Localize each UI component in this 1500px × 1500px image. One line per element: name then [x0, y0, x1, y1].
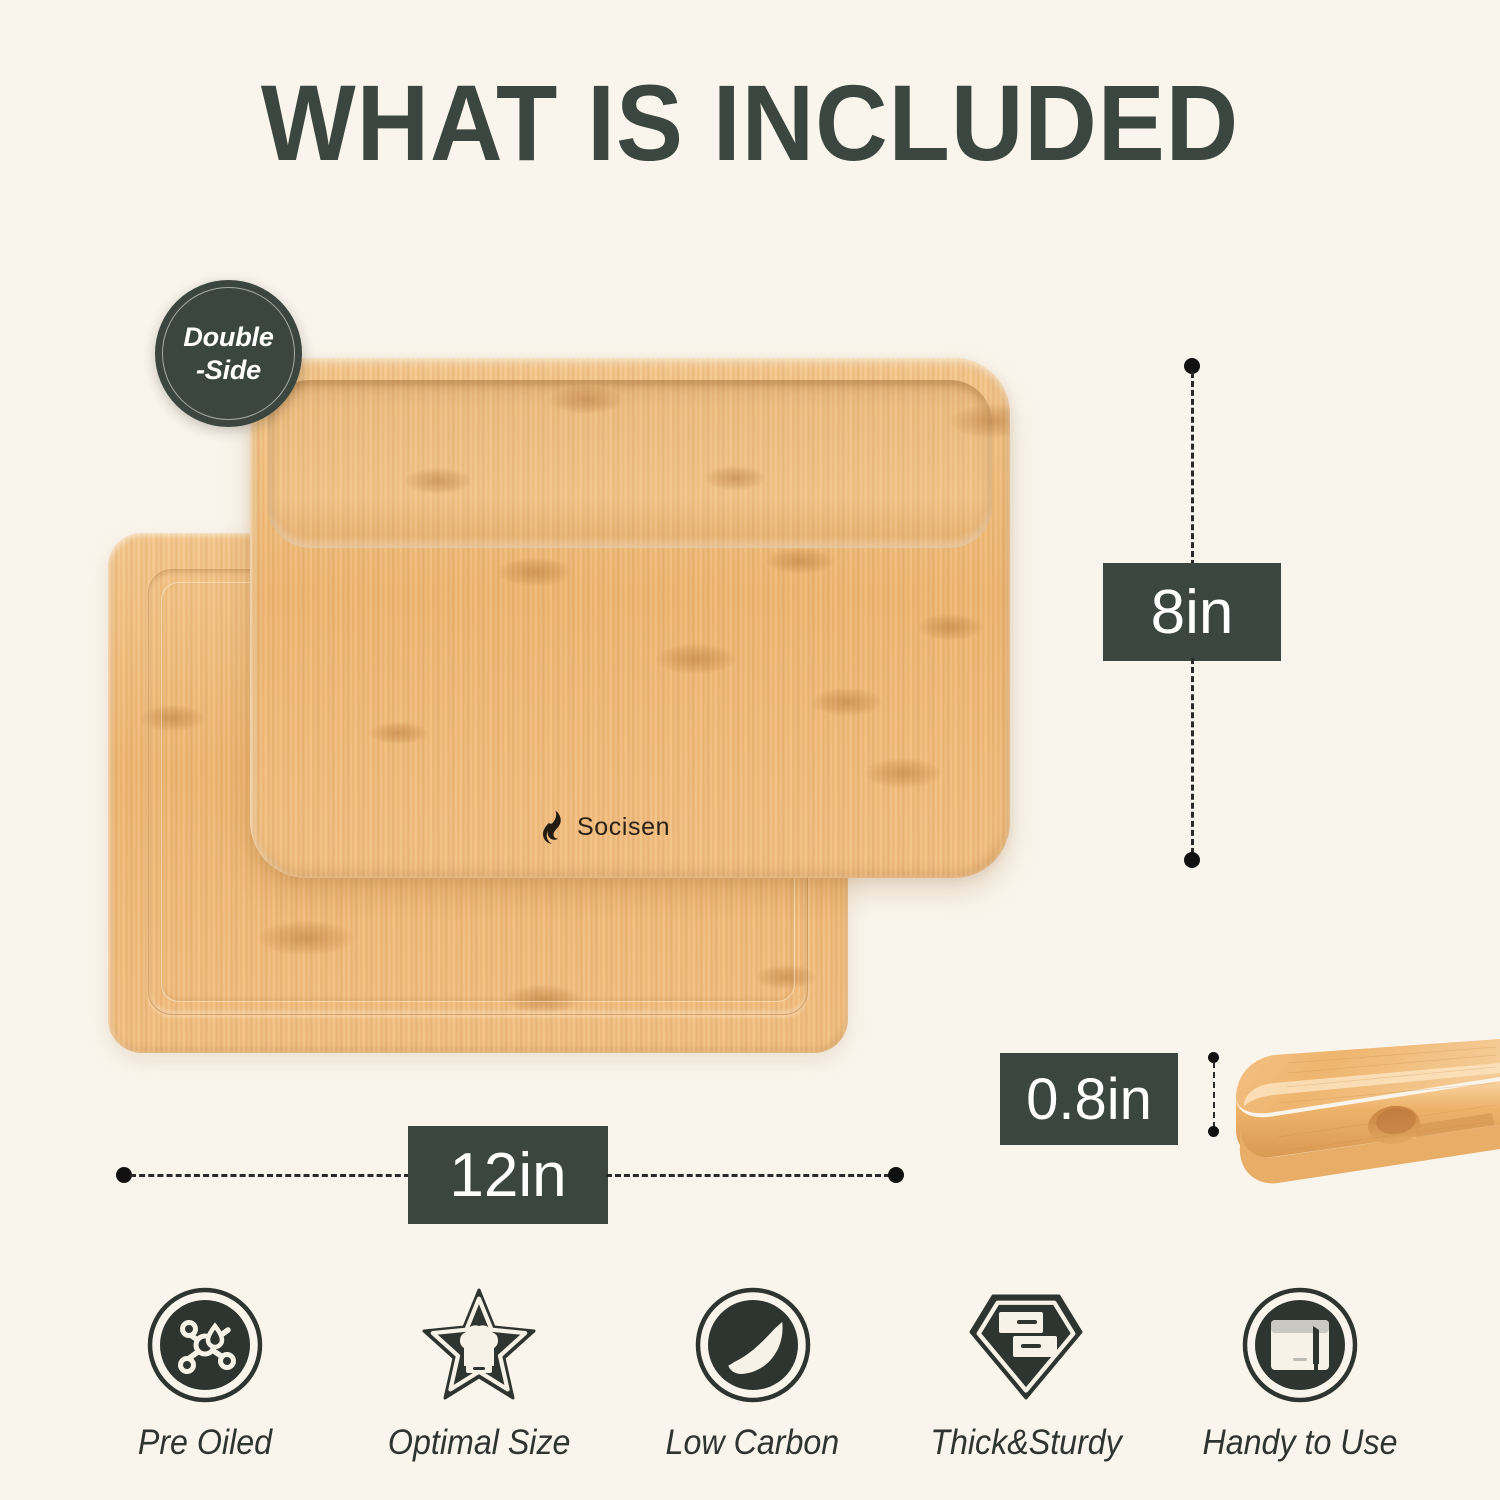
dimension-line-vertical [1191, 372, 1194, 566]
dimension-line-vertical [1191, 658, 1194, 854]
dimension-line-vertical [1213, 1062, 1215, 1128]
board-edge-illustration [1228, 1033, 1500, 1193]
feature-low-carbon: Low Carbon [638, 1285, 868, 1463]
width-dimension-label: 12in [408, 1126, 608, 1224]
feature-label: Handy to Use [1202, 1423, 1397, 1463]
bamboo-node [766, 548, 834, 574]
dimension-endpoint-dot [1208, 1126, 1219, 1137]
height-dimension-label: 8in [1103, 563, 1281, 661]
feature-pre-oiled: Pre Oiled [90, 1285, 320, 1463]
feature-label: Low Carbon [666, 1423, 840, 1463]
bamboo-node [918, 614, 982, 640]
bamboo-node [865, 758, 941, 788]
leaf-circle-icon [693, 1285, 813, 1405]
dimension-line-horizontal [606, 1174, 890, 1177]
feature-label: Thick&Sturdy [931, 1423, 1122, 1463]
dimension-endpoint-dot [888, 1167, 904, 1183]
bamboo-node [812, 688, 882, 716]
bamboo-node [656, 644, 736, 674]
dimension-endpoint-dot [1184, 852, 1200, 868]
diamond-stacked-boards-icon [966, 1285, 1086, 1405]
feature-list: Pre Oiled Optimal Size [90, 1285, 1415, 1500]
badge-line-2: -Side [196, 354, 261, 387]
board-and-knife-circle-icon [1240, 1285, 1360, 1405]
juice-groove-well [268, 380, 992, 548]
feature-thick-sturdy: Thick&Sturdy [911, 1285, 1141, 1463]
dimension-line-horizontal [130, 1174, 410, 1177]
bamboo-node [370, 722, 428, 744]
feature-handy-to-use: Handy to Use [1185, 1285, 1415, 1463]
thickness-dimension-label: 0.8in [1000, 1053, 1178, 1145]
board-edge-side-view [1228, 1033, 1500, 1193]
double-side-badge: Double -Side [155, 280, 302, 427]
bamboo-node [498, 558, 572, 586]
front-board [250, 358, 1010, 878]
feature-label: Pre Oiled [138, 1423, 272, 1463]
infographic-canvas: WHAT IS INCLUDED Socisen [0, 0, 1500, 1500]
oil-molecule-circle-icon [145, 1285, 265, 1405]
badge-line-1: Double [183, 321, 273, 354]
feature-optimal-size: Optimal Size [364, 1285, 594, 1463]
page-title: WHAT IS INCLUDED [53, 60, 1448, 185]
chef-hat-star-icon [419, 1285, 539, 1405]
feature-label: Optimal Size [387, 1423, 570, 1463]
